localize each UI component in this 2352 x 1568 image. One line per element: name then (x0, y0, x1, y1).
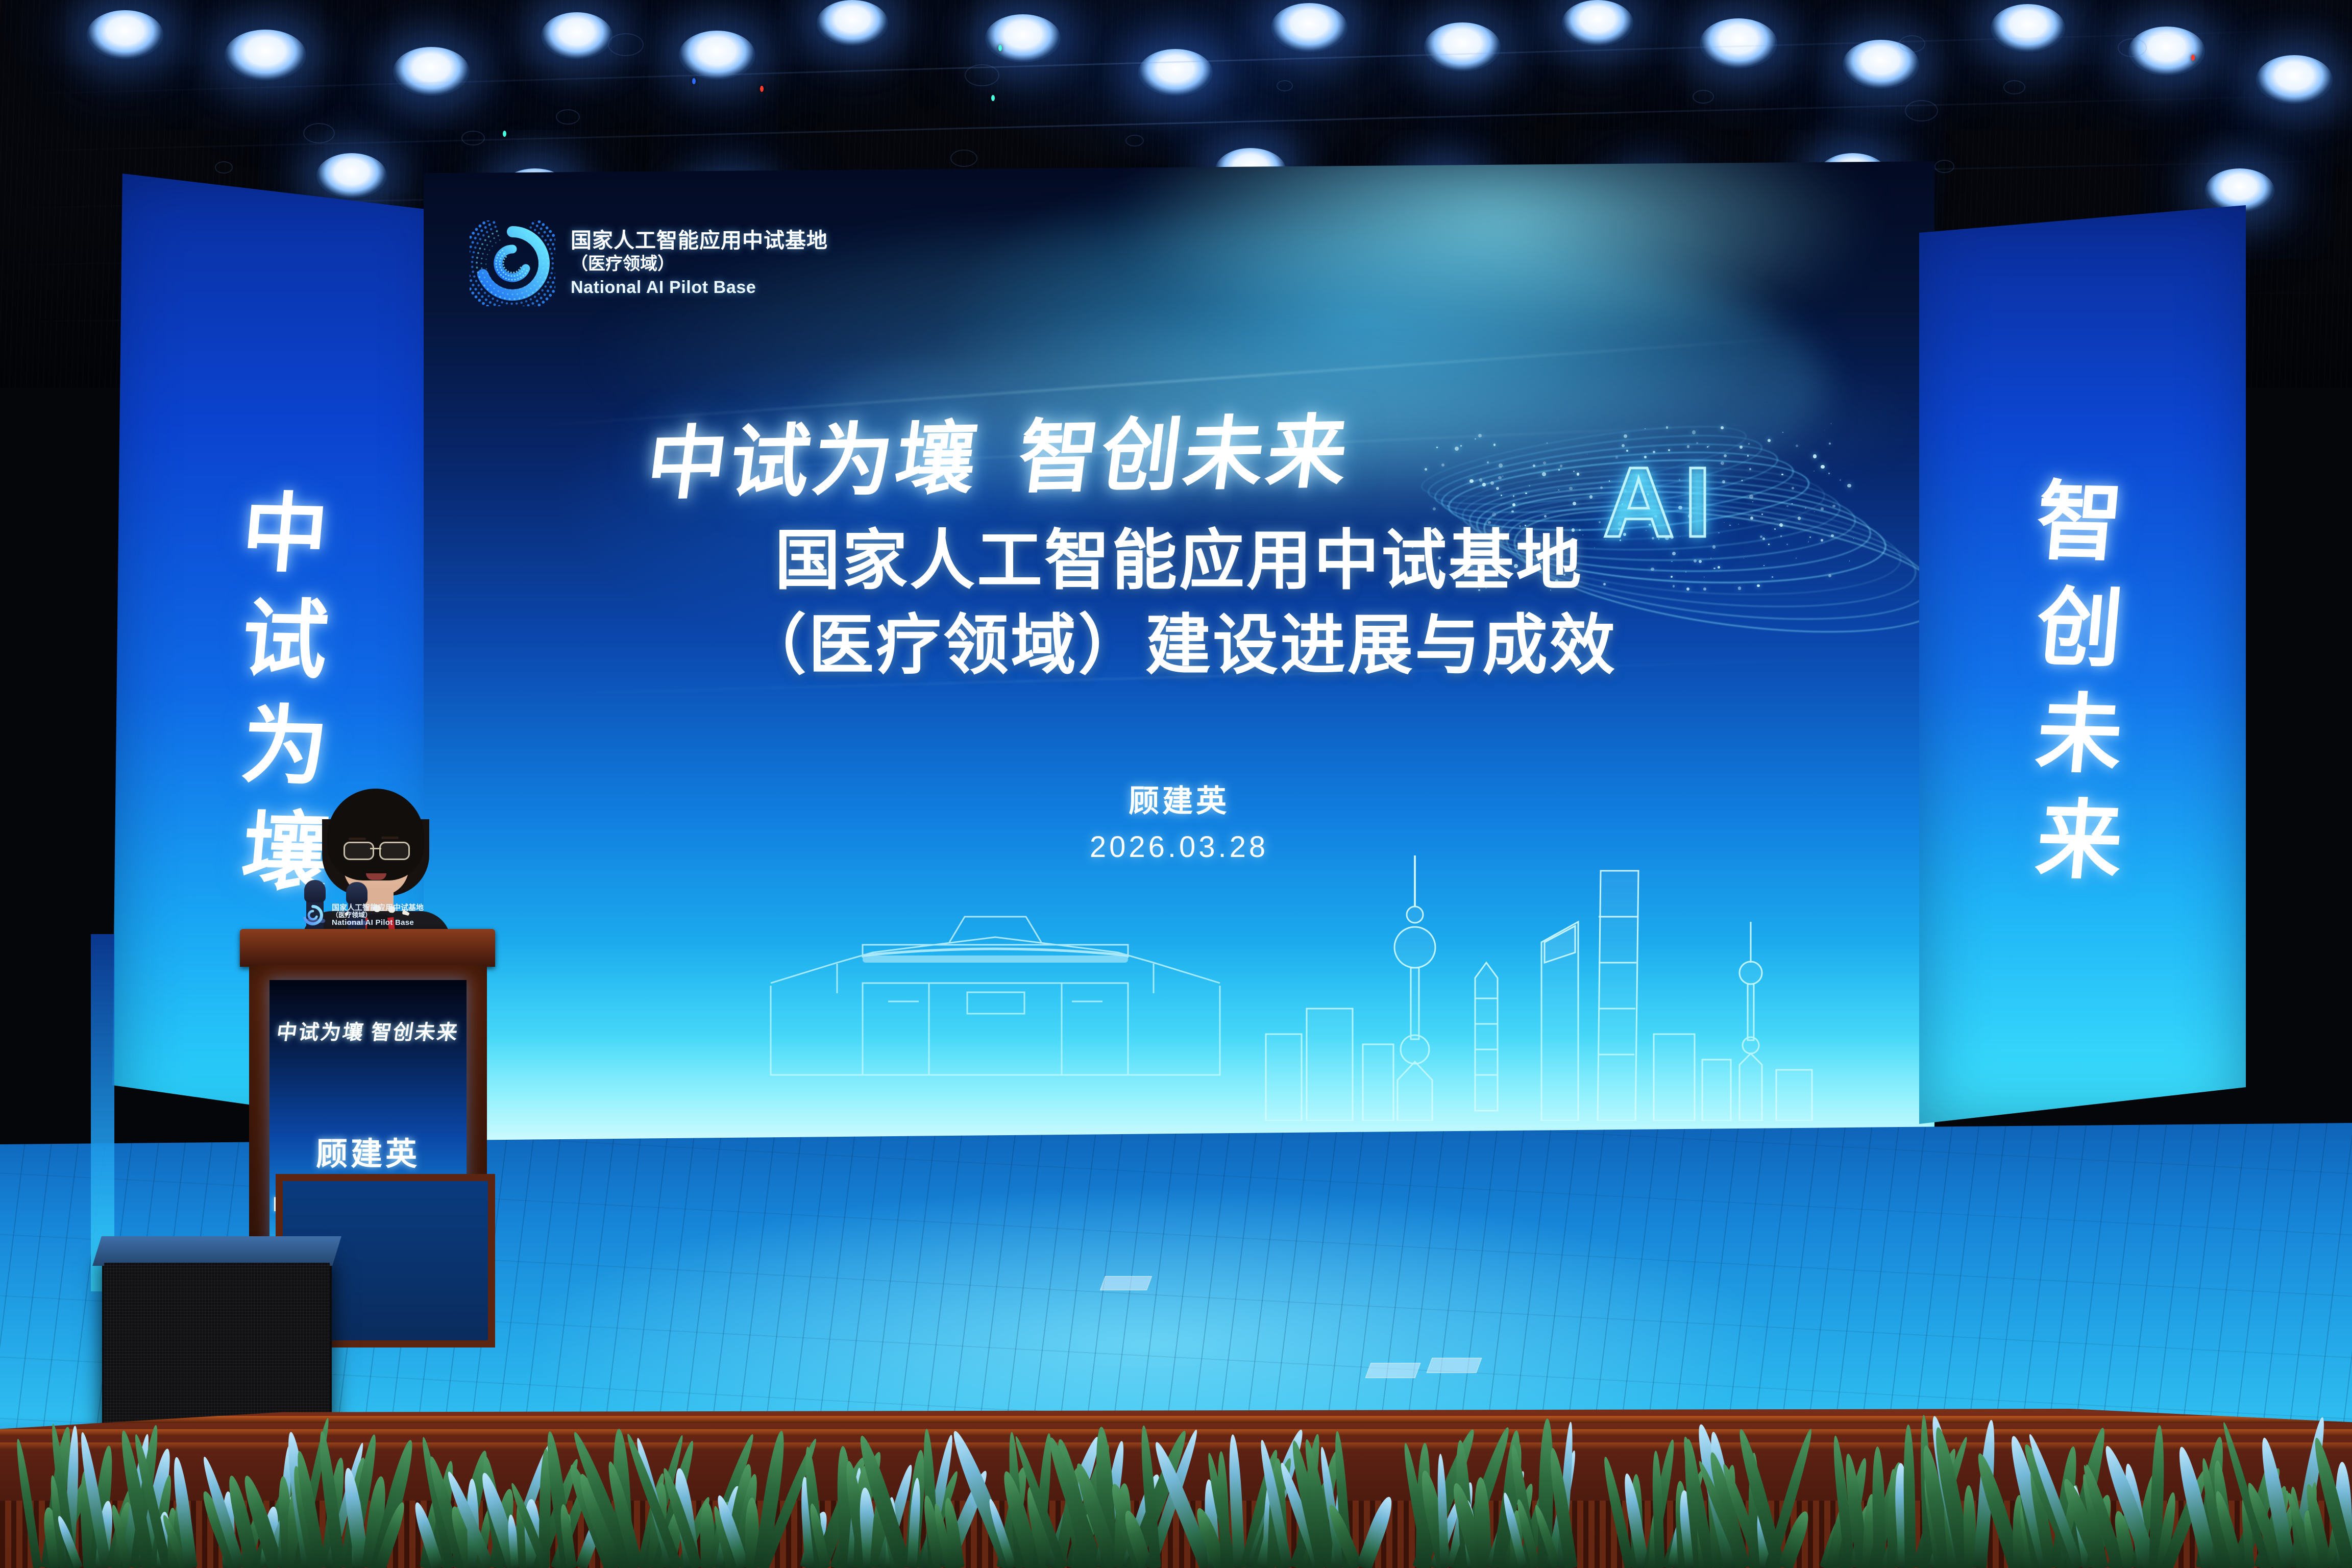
ai-particle (1624, 434, 1627, 438)
ai-particle (1761, 513, 1763, 515)
rig-indicator-led (503, 131, 506, 137)
ai-particle (1814, 471, 1815, 472)
podium-plaque-cn-line2: （医疗领域） (332, 912, 424, 919)
podium-plaque-cn-line1: 国家人工智能应用中试基地 (332, 904, 424, 912)
decorative-plant (31, 1445, 194, 1568)
national-ai-pilot-base-swirl-logo-icon (470, 220, 555, 306)
ceiling-rig-fixture (556, 109, 580, 125)
ceiling-downlight (817, 0, 888, 46)
rig-indicator-led (998, 45, 1002, 51)
ai-particle (1828, 473, 1830, 474)
ai-particle (1768, 439, 1771, 442)
ai-particle (1544, 515, 1547, 518)
ai-particle (1739, 446, 1743, 449)
ai-particle (1525, 493, 1527, 495)
calligraphy-spacer (975, 485, 1015, 486)
ceiling-rig-fixture (1905, 100, 1938, 121)
right-banner-char: 创 (2033, 585, 2126, 673)
ceiling-downlight (679, 31, 755, 80)
screen-title-line-2: （医疗领域）建设进展与成效 (424, 603, 1934, 688)
ceiling-downlight (87, 10, 163, 59)
rig-indicator-led (991, 95, 995, 101)
screen-title-block: 国家人工智能应用中试基地 （医疗领域）建设进展与成效 (424, 519, 1934, 689)
calligraphy-part-2: 智创未来 (1013, 408, 1356, 502)
stage-scene: 中 试 为 壤 (0, 0, 2352, 1568)
screen-logo-lockup: 国家人工智能应用中试基地 （医疗领域） National AI Pilot Ba… (470, 220, 828, 306)
ai-particle (1821, 465, 1824, 469)
decorative-plant (419, 1451, 582, 1568)
podium-plaque-en-line: National AI Pilot Base (332, 919, 424, 927)
decorative-plant (219, 1440, 383, 1568)
ceiling-downlight (541, 12, 612, 59)
ai-particle (1749, 495, 1753, 499)
ai-particle (1478, 434, 1482, 437)
ai-particle (1832, 505, 1835, 507)
ceiling-downlight (1991, 4, 2065, 52)
podium-plaque-text: 国家人工智能应用中试基地 （医疗领域） National AI Pilot Ba… (332, 904, 424, 927)
ai-particle (1742, 480, 1743, 481)
decorative-plant (602, 1445, 766, 1568)
ai-particle (1433, 507, 1436, 510)
plant-leaf (1356, 1494, 1396, 1568)
ai-particle (1492, 512, 1496, 517)
ceiling-downlight (985, 14, 1061, 62)
ceiling-rig-fixture (1125, 135, 1144, 147)
ai-particle (1847, 484, 1851, 487)
stage-floor-pocket (1365, 1363, 1421, 1378)
ai-particle (1692, 430, 1696, 434)
speaker-eyebrow-left (349, 838, 366, 840)
ceiling-downlight (1424, 22, 1501, 71)
ceiling-downlight (1562, 0, 1633, 46)
podium-logo-plaque: 国家人工智能应用中试基地 （医疗领域） National AI Pilot Ba… (252, 900, 483, 930)
ai-particle (1436, 447, 1438, 448)
ceiling-rig-fixture (1693, 90, 1714, 104)
decorative-plant (1817, 1438, 1980, 1568)
plant-leaf (1902, 1425, 1916, 1568)
decorative-plant (1623, 1445, 1786, 1568)
ai-particle (1558, 489, 1559, 491)
ai-particle (1512, 503, 1515, 506)
calligraphy-part-1: 中试为壤 (642, 415, 984, 509)
ai-particle (1482, 483, 1485, 486)
main-presentation-screen: 国家人工智能应用中试基地 （医疗领域） National AI Pilot Ba… (424, 161, 1934, 1157)
logo-cn-line2: （医疗领域） (571, 254, 828, 274)
ai-particle (1792, 487, 1794, 489)
decorative-plant (995, 1443, 1159, 1568)
podium-display-name: 顾建英 (269, 1128, 467, 1174)
ai-particle (1573, 502, 1576, 505)
ai-particle (1724, 454, 1727, 457)
plant-leaf (14, 1438, 42, 1568)
ai-particle (1831, 423, 1832, 424)
ai-particle (1666, 426, 1669, 429)
ai-particle (1558, 469, 1560, 471)
left-banner-char: 试 (238, 597, 331, 685)
screen-bottom-glow (424, 937, 1934, 1157)
decorative-plant (1199, 1445, 1363, 1568)
ceiling-downlight (1700, 18, 1777, 68)
ceiling-downlight (393, 47, 470, 96)
decorative-plant (2195, 1440, 2352, 1568)
left-banner-char: 中 (238, 491, 331, 579)
ai-particle (1577, 473, 1579, 475)
ai-particle (1475, 438, 1476, 439)
screen-logo-text: 国家人工智能应用中试基地 （医疗领域） National AI Pilot Ba… (571, 229, 828, 298)
ai-particle (1782, 432, 1783, 433)
rig-indicator-led (692, 78, 696, 84)
logo-en-line: National AI Pilot Base (571, 278, 828, 298)
podium-display-calligraphy: 中试为壤 智创未来 (269, 1016, 467, 1045)
rig-indicator-led (760, 86, 764, 92)
ai-particle (1447, 505, 1448, 506)
right-banner-char: 未 (2033, 692, 2126, 779)
ai-particle (1469, 479, 1473, 483)
microphone-head-icon (304, 880, 326, 902)
speaker-eyeglass-bridge (370, 848, 381, 849)
stage-floor-pocket (1100, 1276, 1152, 1290)
ai-particle (1796, 445, 1798, 447)
right-banner-char: 来 (2033, 798, 2126, 886)
ceiling-rig-fixture (1277, 80, 1293, 91)
ai-particle (1747, 455, 1749, 457)
plant-leaf (1871, 1447, 1886, 1568)
ai-particle (1722, 480, 1725, 483)
ai-particle (1460, 445, 1462, 447)
left-banner-char: 为 (238, 703, 331, 791)
ceiling-downlight (225, 30, 306, 81)
ai-particle (1493, 444, 1496, 446)
ai-particle (1479, 478, 1483, 482)
ceiling-rig-fixture (461, 131, 484, 145)
speaker-eyeglass-left (344, 842, 374, 860)
ai-particle (1813, 454, 1817, 458)
right-banner-text-column: 智 创 未 来 (1919, 205, 2243, 1124)
ai-particle (1529, 485, 1530, 486)
ceiling-downlight (1138, 49, 1213, 96)
podium-top-surface (240, 929, 495, 967)
ai-particle (1513, 495, 1514, 497)
ai-particle (1840, 479, 1842, 481)
right-banner-char: 智 (2033, 479, 2126, 567)
ai-particle (1824, 430, 1825, 430)
national-ai-pilot-base-swirl-logo-icon (301, 903, 325, 927)
ceiling-downlight (1271, 3, 1347, 52)
ai-particle (1721, 426, 1724, 429)
speaker-hair (327, 789, 424, 880)
logo-cn-line1: 国家人工智能应用中试基地 (571, 229, 828, 253)
ai-particle (1455, 447, 1459, 451)
ai-particle (1829, 443, 1831, 445)
right-vertical-banner: 智 创 未 来 (1919, 205, 2246, 1124)
ai-particle (1533, 464, 1535, 467)
ceiling-rig-fixture (608, 33, 644, 56)
ai-particle (1589, 495, 1593, 499)
ai-particle (1645, 428, 1646, 429)
screen-title-line-1: 国家人工智能应用中试基地 (424, 519, 1934, 603)
ai-particle (1542, 472, 1546, 476)
stage-front-plant-row (0, 1415, 2352, 1568)
pa-speaker-cabinet-top (92, 1236, 341, 1266)
ai-particle (1821, 507, 1823, 510)
ceiling-rig-fixture (2118, 38, 2147, 57)
screen-light-beam (1113, 161, 1878, 355)
speaker-eyebrow-right (381, 837, 399, 839)
ai-particle (1543, 461, 1546, 464)
decorative-plant (796, 1448, 960, 1568)
ai-particle (1511, 510, 1514, 513)
decorative-plant (1409, 1440, 1572, 1568)
stage-floor-pocket (1427, 1358, 1482, 1373)
decorative-plant (2006, 1443, 2169, 1568)
ai-particle (1814, 511, 1815, 512)
speaker-eyeglass-right (379, 842, 410, 860)
